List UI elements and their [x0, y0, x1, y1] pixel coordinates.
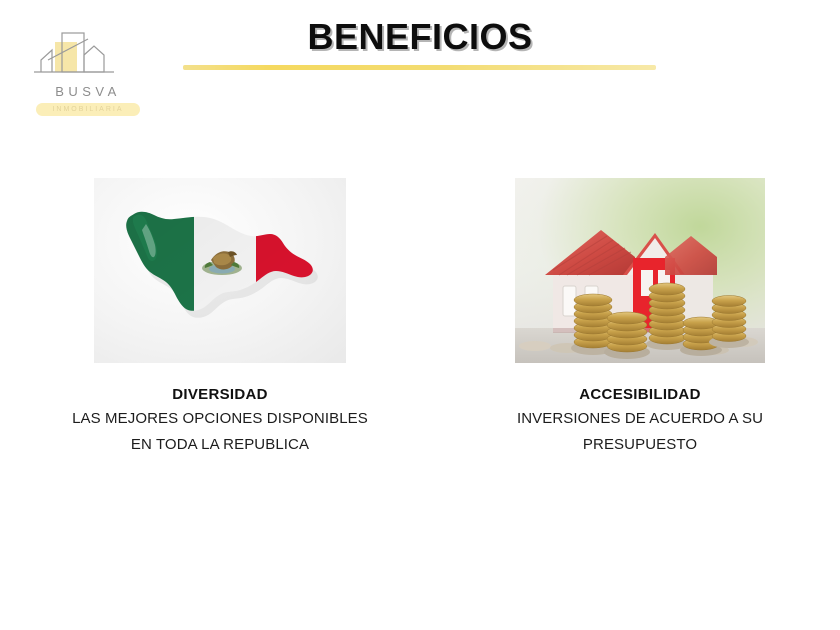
house-and-coin-stacks-image [515, 178, 765, 363]
caption-diversidad: DIVERSIDAD LAS MEJORES OPCIONES DISPONIB… [15, 384, 425, 458]
benefit-column-diversidad: DIVERSIDAD LAS MEJORES OPCIONES DISPONIB… [15, 178, 425, 458]
caption-accesibilidad: ACCESIBILIDAD INVERSIONES DE ACUERDO A S… [455, 384, 825, 458]
title-underline-rule [183, 65, 656, 70]
caption-line-2: PRESUPUESTO [455, 432, 825, 458]
house-and-coins-graphic [515, 178, 765, 363]
caption-heading: ACCESIBILIDAD [455, 384, 825, 406]
mexico-map-flag-image [94, 178, 346, 363]
caption-line-1: LAS MEJORES OPCIONES DISPONIBLES [15, 406, 425, 432]
caption-heading: DIVERSIDAD [15, 384, 425, 406]
mexico-map-graphic [94, 178, 346, 363]
coin-stack-2 [604, 312, 650, 359]
caption-line-1: INVERSIONES DE ACUERDO A SU [455, 406, 825, 432]
coin-stack-5 [709, 296, 749, 349]
caption-line-2: EN TODA LA REPUBLICA [15, 432, 425, 458]
logo-wordmark: BUSVA [28, 84, 148, 99]
page-title: BENEFICIOS [0, 16, 840, 58]
benefit-column-accesibilidad: ACCESIBILIDAD INVERSIONES DE ACUERDO A S… [455, 178, 825, 458]
logo-tagline: INMOBILIARIA [36, 104, 140, 115]
coin-stack-3 [646, 283, 688, 350]
